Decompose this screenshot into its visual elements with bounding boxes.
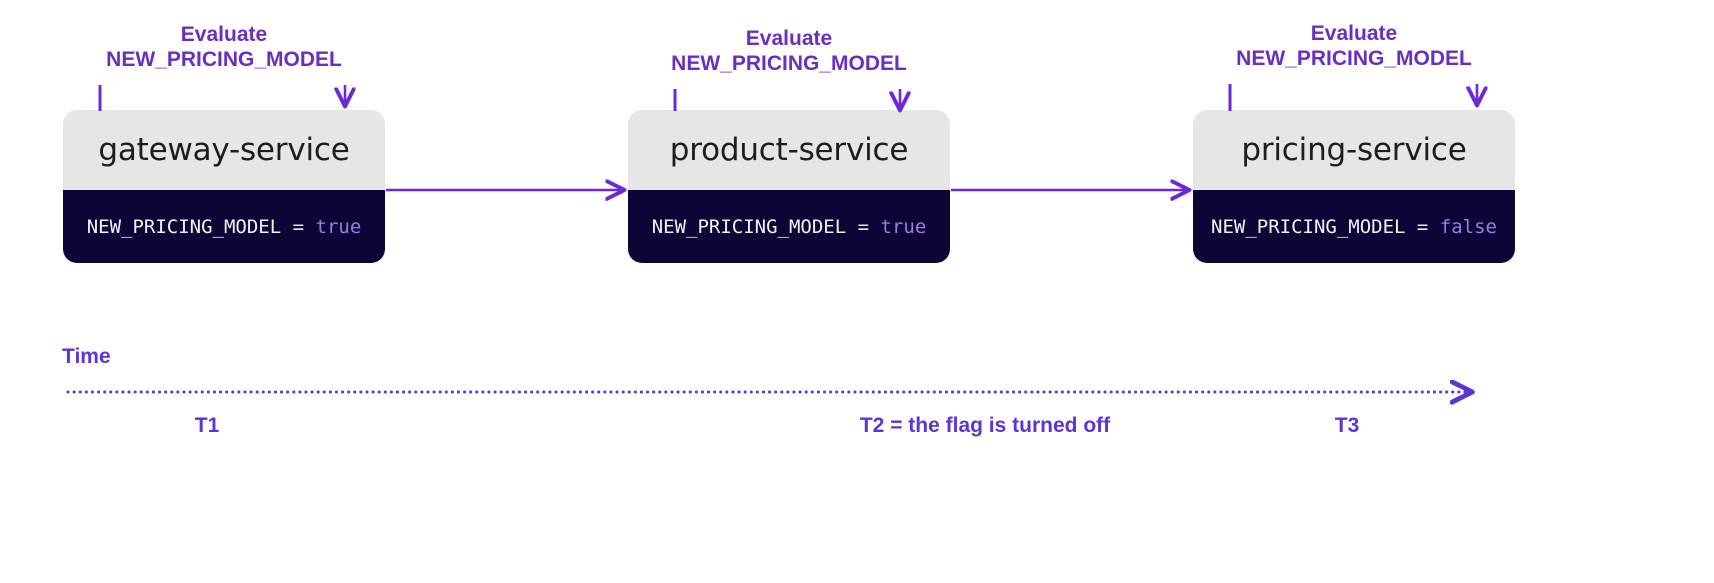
service-name-label: pricing-service bbox=[1241, 132, 1466, 168]
service-node-pricing: pricing-service NEW_PRICING_MODEL = fals… bbox=[1193, 110, 1515, 263]
timeline-tick-t1: T1 bbox=[195, 414, 220, 438]
service-node-flag-panel: NEW_PRICING_MODEL = false bbox=[1193, 190, 1515, 263]
timeline-axis-label: Time bbox=[62, 345, 111, 369]
flag-value-label: false bbox=[1440, 216, 1497, 238]
flag-key-label: NEW_PRICING_MODEL bbox=[652, 216, 846, 238]
service-node-gateway: gateway-service NEW_PRICING_MODEL = true bbox=[63, 110, 385, 263]
flag-value-label: true bbox=[316, 216, 362, 238]
evaluate-annotation-line1: Evaluate bbox=[1192, 21, 1516, 46]
service-node-header: product-service bbox=[628, 110, 950, 190]
evaluate-annotation-line2: NEW_PRICING_MODEL bbox=[627, 51, 951, 76]
service-node-header: gateway-service bbox=[63, 110, 385, 190]
timeline-tick-t3: T3 bbox=[1335, 414, 1360, 438]
flag-assignment: NEW_PRICING_MODEL = true bbox=[652, 216, 927, 238]
flag-key-label: NEW_PRICING_MODEL bbox=[87, 216, 281, 238]
service-name-label: product-service bbox=[670, 132, 908, 168]
service-node-flag-panel: NEW_PRICING_MODEL = true bbox=[63, 190, 385, 263]
flag-equals-sign: = bbox=[1405, 216, 1439, 238]
evaluate-annotation-line1: Evaluate bbox=[62, 22, 386, 47]
flag-equals-sign: = bbox=[846, 216, 880, 238]
flag-value-label: true bbox=[881, 216, 927, 238]
service-node-product: product-service NEW_PRICING_MODEL = true bbox=[628, 110, 950, 263]
diagram-canvas: Evaluate NEW_PRICING_MODEL Evaluate NEW_… bbox=[0, 0, 1714, 583]
evaluate-annotation-gateway: Evaluate NEW_PRICING_MODEL bbox=[62, 22, 386, 72]
evaluate-annotation-line2: NEW_PRICING_MODEL bbox=[62, 47, 386, 72]
connector-overlay bbox=[0, 0, 1714, 583]
flag-equals-sign: = bbox=[281, 216, 315, 238]
evaluate-annotation-product: Evaluate NEW_PRICING_MODEL bbox=[627, 26, 951, 76]
evaluate-down-arrows bbox=[345, 84, 1477, 110]
service-node-header: pricing-service bbox=[1193, 110, 1515, 190]
evaluate-annotation-line2: NEW_PRICING_MODEL bbox=[1192, 46, 1516, 71]
evaluate-annotation-pricing: Evaluate NEW_PRICING_MODEL bbox=[1192, 21, 1516, 71]
flag-assignment: NEW_PRICING_MODEL = true bbox=[87, 216, 362, 238]
evaluate-stub-lines bbox=[100, 84, 1230, 111]
timeline-tick-t2: T2 = the flag is turned off bbox=[860, 414, 1110, 438]
flag-key-label: NEW_PRICING_MODEL bbox=[1211, 216, 1405, 238]
service-name-label: gateway-service bbox=[98, 132, 349, 168]
flag-assignment: NEW_PRICING_MODEL = false bbox=[1211, 216, 1497, 238]
evaluate-annotation-line1: Evaluate bbox=[627, 26, 951, 51]
service-node-flag-panel: NEW_PRICING_MODEL = true bbox=[628, 190, 950, 263]
